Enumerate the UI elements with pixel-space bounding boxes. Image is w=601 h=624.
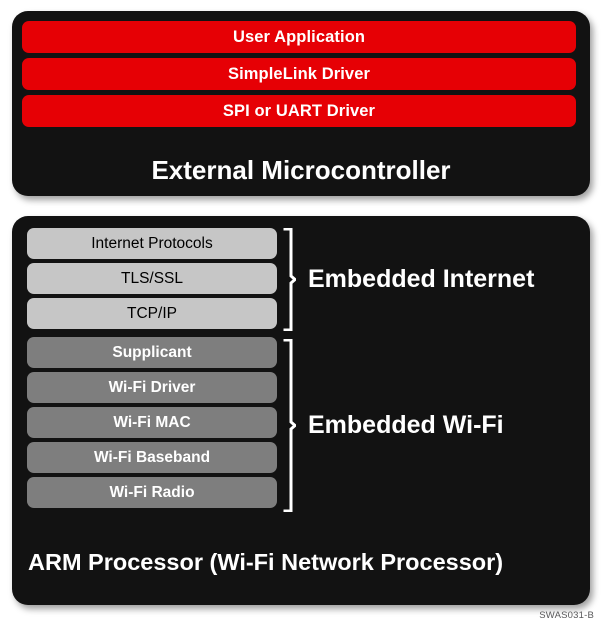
layer-label: Supplicant [112,344,191,362]
layer-label: SimpleLink Driver [228,65,370,84]
layer-supplicant: Supplicant [27,337,277,368]
layer-label: Wi-Fi Driver [109,379,196,397]
arm-processor-panel: Internet Protocols TLS/SSL TCP/IP Suppli… [12,216,590,605]
external-microcontroller-title: External Microcontroller [12,155,590,186]
microcontroller-layer-stack: User Application SimpleLink Driver SPI o… [22,21,576,132]
layer-label: TCP/IP [127,305,177,323]
layer-wifi-radio: Wi-Fi Radio [27,477,277,508]
layer-label: Wi-Fi Radio [109,484,194,502]
layer-wifi-mac: Wi-Fi MAC [27,407,277,438]
layer-wifi-baseband: Wi-Fi Baseband [27,442,277,473]
layer-tcp-ip: TCP/IP [27,298,277,329]
network-processor-layer-stack: Internet Protocols TLS/SSL TCP/IP Suppli… [27,228,277,512]
layer-simplelink-driver: SimpleLink Driver [22,58,576,90]
layer-user-application: User Application [22,21,576,53]
layer-label: Wi-Fi Baseband [94,449,210,467]
layer-label: Wi-Fi MAC [113,414,190,432]
layer-spi-or-uart-driver: SPI or UART Driver [22,95,576,127]
group-label-embedded-internet: Embedded Internet [308,267,534,292]
curly-brace-icon-embedded-internet [283,228,296,331]
layer-tls-ssl: TLS/SSL [27,263,277,294]
layer-label: SPI or UART Driver [223,102,375,121]
layer-wifi-driver: Wi-Fi Driver [27,372,277,403]
layer-label: TLS/SSL [121,270,183,288]
external-microcontroller-panel: User Application SimpleLink Driver SPI o… [12,11,590,196]
document-figure-caption: SWAS031-B [539,610,594,621]
arm-processor-title: ARM Processor (Wi-Fi Network Processor) [28,549,503,576]
layer-internet-protocols: Internet Protocols [27,228,277,259]
curly-brace-icon-embedded-wifi [283,339,296,512]
layer-label: Internet Protocols [91,235,212,253]
group-label-embedded-wifi: Embedded Wi-Fi [308,413,504,438]
layer-label: User Application [233,28,365,47]
